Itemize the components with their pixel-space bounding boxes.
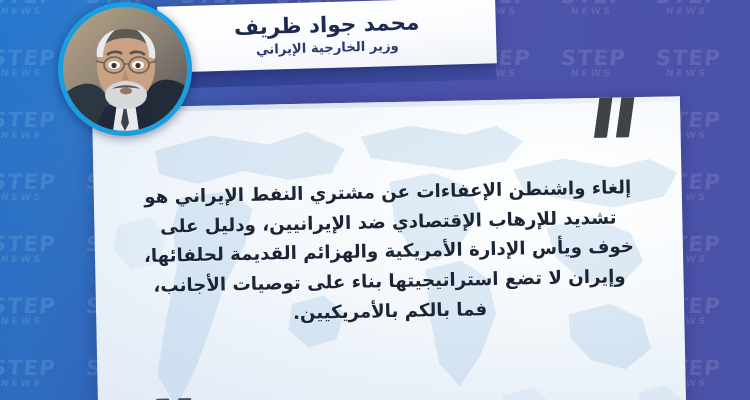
news-quote-card: STEPNEWSSTEPNEWSSTEPNEWSSTEPNEWSSTEPNEWS… xyxy=(0,0,750,400)
quote-text: إلغاء واشنطن الإعفاءات عن مشتري النفط ال… xyxy=(120,173,659,332)
watermark-secondary: NEWS xyxy=(738,194,750,203)
step-news-watermark: STEPNEWS xyxy=(738,48,750,79)
step-news-watermark: STEPNEWS xyxy=(738,296,750,327)
step-news-watermark: STEPNEWS xyxy=(548,0,637,17)
watermark-primary: STEP xyxy=(739,172,750,193)
watermark-primary: STEP xyxy=(549,0,637,7)
speaker-name: محمد جواد ظريف xyxy=(234,11,420,40)
watermark-primary: STEP xyxy=(739,234,750,255)
watermark-primary: STEP xyxy=(549,48,637,69)
opening-quote-mark xyxy=(588,96,633,138)
watermark-secondary: NEWS xyxy=(643,70,730,79)
watermark-primary: STEP xyxy=(739,296,750,317)
quote-bar xyxy=(616,96,636,137)
watermark-secondary: NEWS xyxy=(738,8,750,17)
speaker-portrait xyxy=(58,2,192,136)
watermark-primary: STEP xyxy=(644,0,732,7)
watermark-primary: STEP xyxy=(739,48,750,69)
watermark-primary: STEP xyxy=(739,358,750,379)
step-news-watermark: STEPNEWS xyxy=(548,48,637,79)
step-news-watermark: STEPNEWS xyxy=(643,48,732,79)
watermark-secondary: NEWS xyxy=(738,318,750,327)
speaker-role: وزير الخارجية الإيراني xyxy=(256,39,399,59)
step-news-watermark: STEPNEWS xyxy=(643,0,732,17)
watermark-primary: STEP xyxy=(644,48,732,69)
speaker-banner: محمد جواد ظريف وزير الخارجية الإيراني xyxy=(157,0,497,73)
step-news-watermark: STEPNEWS xyxy=(738,358,750,389)
watermark-secondary: NEWS xyxy=(738,380,750,389)
watermark-secondary: NEWS xyxy=(548,8,635,17)
watermark-secondary: NEWS xyxy=(738,132,750,141)
quote-card: إلغاء واشنطن الإعفاءات عن مشتري النفط ال… xyxy=(92,96,686,400)
watermark-primary: STEP xyxy=(739,0,750,7)
watermark-secondary: NEWS xyxy=(738,70,750,79)
watermark-secondary: NEWS xyxy=(643,8,730,17)
step-news-watermark: STEPNEWS xyxy=(738,0,750,17)
watermark-secondary: NEWS xyxy=(548,70,635,79)
quote-bar xyxy=(594,96,614,138)
step-news-watermark: STEPNEWS xyxy=(738,110,750,141)
watermark-secondary: NEWS xyxy=(738,256,750,265)
watermark-primary: STEP xyxy=(739,110,750,131)
step-news-watermark: STEPNEWS xyxy=(738,234,750,265)
step-news-watermark: STEPNEWS xyxy=(738,172,750,203)
